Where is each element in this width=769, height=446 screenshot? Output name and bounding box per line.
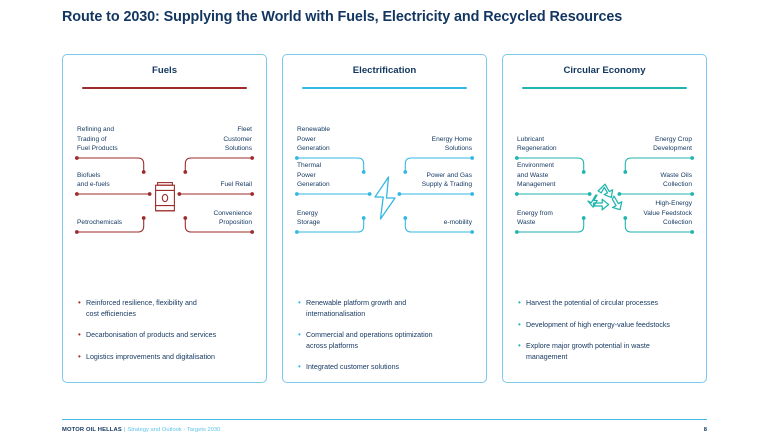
bullet-text: Integrated customer solutions xyxy=(306,362,399,373)
bullet-marker-icon: • xyxy=(298,330,306,341)
footer-brand: MOTOR OIL HELLAS xyxy=(62,427,122,433)
panel-fuels: FuelsRefining and Trading of Fuel Produc… xyxy=(62,54,267,383)
bullet-marker-icon: • xyxy=(78,330,86,341)
bullet-item: •Commercial and operations optimization … xyxy=(298,330,474,351)
footer-left: MOTOR OIL HELLAS|Strategy and Outlook - … xyxy=(62,427,220,433)
node-label-right-1: Energy Crop Development xyxy=(653,135,692,153)
bullet-marker-icon: • xyxy=(298,362,306,373)
bullet-item: •Integrated customer solutions xyxy=(298,362,474,373)
node-label-right-3: e-mobility xyxy=(444,218,472,227)
footer-separator: | xyxy=(124,427,126,433)
bullet-text: Commercial and operations optimization a… xyxy=(306,330,433,351)
bullet-item: •Harvest the potential of circular proce… xyxy=(518,298,694,309)
node-label-right-3: High-Energy Value Feedstock Collection xyxy=(643,199,692,227)
bullet-marker-icon: • xyxy=(78,298,86,309)
bullet-marker-icon: • xyxy=(518,341,526,352)
bullet-marker-icon: • xyxy=(518,320,526,331)
bullet-text: Decarbonisation of products and services xyxy=(86,330,216,341)
panels-row: FuelsRefining and Trading of Fuel Produc… xyxy=(62,54,707,383)
bullet-text: Reinforced resilience, flexibility and c… xyxy=(86,298,197,319)
panel-accent-rule-fuels xyxy=(82,87,247,89)
panel-title-fuels: Fuels xyxy=(63,65,266,76)
node-label-right-2: Waste Oils Collection xyxy=(660,171,692,189)
footer-page-number: 8 xyxy=(704,427,707,433)
footer: MOTOR OIL HELLAS|Strategy and Outlook - … xyxy=(62,427,707,433)
node-label-right-1: Energy Home Solutions xyxy=(432,135,472,153)
node-label-left-3: Energy from Waste xyxy=(517,209,553,227)
node-label-left-3: Energy Storage xyxy=(297,209,320,227)
bullet-list-circular-economy: •Harvest the potential of circular proce… xyxy=(518,298,694,373)
panel-accent-rule-circular-economy xyxy=(522,87,687,89)
bullet-item: •Reinforced resilience, flexibility and … xyxy=(78,298,254,319)
panel-accent-rule-electrification xyxy=(302,87,467,89)
bullet-item: •Explore major growth potential in waste… xyxy=(518,341,694,362)
bullet-text: Explore major growth potential in waste … xyxy=(526,341,650,362)
node-label-left-2: Environment and Waste Management xyxy=(517,161,556,189)
lightning-bolt-icon xyxy=(363,173,407,223)
oil-barrel-icon xyxy=(143,173,187,223)
recycling-icon xyxy=(583,173,627,223)
node-label-left-3: Petrochemicals xyxy=(77,218,122,227)
panel-title-electrification: Electrification xyxy=(283,65,486,76)
diagram-fuels: Refining and Trading of Fuel ProductsBio… xyxy=(63,107,266,289)
node-label-right-1: Fleet Customer Solutions xyxy=(223,125,252,153)
bullet-text: Development of high energy-value feedsto… xyxy=(526,320,670,331)
node-label-right-2: Power and Gas Supply & Trading xyxy=(422,171,472,189)
node-label-left-1: Lubricant Regeneration xyxy=(517,135,557,153)
node-label-left-1: Refining and Trading of Fuel Products xyxy=(77,125,118,153)
node-label-right-3: Convenience Proposition xyxy=(214,209,253,227)
bullet-marker-icon: • xyxy=(298,298,306,309)
bullet-marker-icon: • xyxy=(78,352,86,363)
bullet-text: Logistics improvements and digitalisatio… xyxy=(86,352,215,363)
node-label-left-2: Biofuels and e-fuels xyxy=(77,171,110,189)
bullet-list-fuels: •Reinforced resilience, flexibility and … xyxy=(78,298,254,373)
bullet-text: Harvest the potential of circular proces… xyxy=(526,298,658,309)
bullet-marker-icon: • xyxy=(518,298,526,309)
panel-title-circular-economy: Circular Economy xyxy=(503,65,706,76)
footer-divider xyxy=(62,419,707,420)
bullet-item: •Logistics improvements and digitalisati… xyxy=(78,352,254,363)
bullet-item: •Decarbonisation of products and service… xyxy=(78,330,254,341)
panel-circular-economy: Circular EconomyLubricant RegenerationEn… xyxy=(502,54,707,383)
node-label-left-2: Thermal Power Generation xyxy=(297,161,330,189)
panel-electrification: ElectrificationRenewable Power Generatio… xyxy=(282,54,487,383)
bullet-list-electrification: •Renewable platform growth and internati… xyxy=(298,298,474,384)
diagram-circular-economy: Lubricant RegenerationEnvironment and Wa… xyxy=(503,107,706,289)
node-label-right-2: Fuel Retail xyxy=(220,180,252,189)
bullet-item: •Development of high energy-value feedst… xyxy=(518,320,694,331)
bullet-text: Renewable platform growth and internatio… xyxy=(306,298,406,319)
bullet-item: •Renewable platform growth and internati… xyxy=(298,298,474,319)
footer-subtitle: Strategy and Outlook - Targets 2030 xyxy=(127,427,220,433)
slide: Route to 2030: Supplying the World with … xyxy=(0,0,769,446)
page-title: Route to 2030: Supplying the World with … xyxy=(62,9,622,25)
node-label-left-1: Renewable Power Generation xyxy=(297,125,330,153)
diagram-electrification: Renewable Power GenerationThermal Power … xyxy=(283,107,486,289)
